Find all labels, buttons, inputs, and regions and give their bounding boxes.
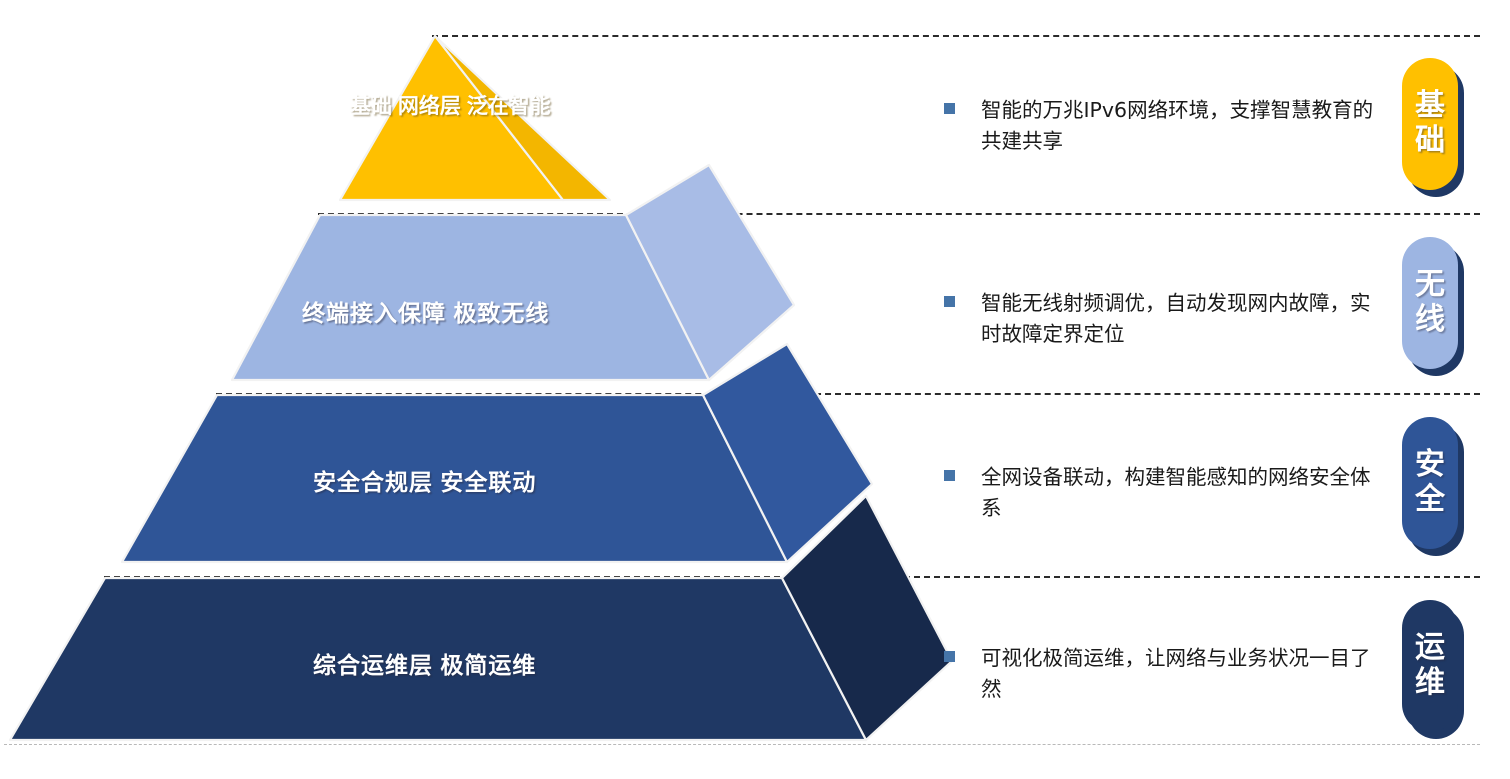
bullet-marker-icon — [944, 296, 955, 307]
pill-wireless-char-2: 线 — [1415, 303, 1445, 338]
layer-operations-front — [10, 578, 866, 740]
layer-foundation-label-line-1: 基础 — [350, 95, 392, 118]
pill-wireless-char-1: 无 — [1415, 268, 1445, 303]
bullet-row-wireless: 智能无线射频调优，自动发现网内故障，实时故障定界定位 — [944, 288, 1381, 350]
pill-wireless[interactable]: 无 线 — [1402, 237, 1458, 369]
layer-foundation-label-line-3: 泛在智能 — [467, 95, 551, 118]
layer-foundation-label-line-2: 网络层 — [398, 95, 461, 118]
bullet-marker-icon — [944, 651, 955, 662]
pill-security-char-2: 全 — [1415, 483, 1445, 518]
pill-security[interactable]: 安 全 — [1402, 417, 1458, 549]
pill-operations-char-2: 维 — [1415, 666, 1445, 701]
bullet-marker-icon — [944, 103, 955, 114]
pill-foundation-char-2: 础 — [1415, 124, 1445, 159]
bullet-row-security: 全网设备联动，构建智能感知的网络安全体系 — [944, 462, 1381, 524]
bullet-row-operations: 可视化极简运维，让网络与业务状况一目了然 — [944, 643, 1381, 705]
bullet-text-wireless: 智能无线射频调优，自动发现网内故障，实时故障定界定位 — [981, 288, 1381, 350]
slide-canvas: 基础 网络层 泛在智能 终端接入保障 极致无线 安全合规层 安全联动 综合运维层… — [0, 0, 1510, 779]
bullet-marker-icon — [944, 470, 955, 481]
bullet-text-security: 全网设备联动，构建智能感知的网络安全体系 — [981, 462, 1381, 524]
bullet-row-foundation: 智能的万兆IPv6网络环境，支撑智慧教育的共建共享 — [944, 95, 1381, 157]
bullet-text-operations: 可视化极简运维，让网络与业务状况一目了然 — [981, 643, 1381, 705]
pill-foundation[interactable]: 基 础 — [1402, 58, 1458, 190]
pill-foundation-char-1: 基 — [1415, 89, 1445, 124]
pill-security-char-1: 安 — [1415, 448, 1445, 483]
bullet-text-foundation: 智能的万兆IPv6网络环境，支撑智慧教育的共建共享 — [981, 95, 1381, 157]
pill-operations[interactable]: 运 维 — [1402, 600, 1458, 732]
pill-operations-char-1: 运 — [1415, 631, 1445, 666]
layer-security-front — [122, 395, 787, 562]
layer-foundation-label: 基础 网络层 泛在智能 — [350, 93, 520, 121]
